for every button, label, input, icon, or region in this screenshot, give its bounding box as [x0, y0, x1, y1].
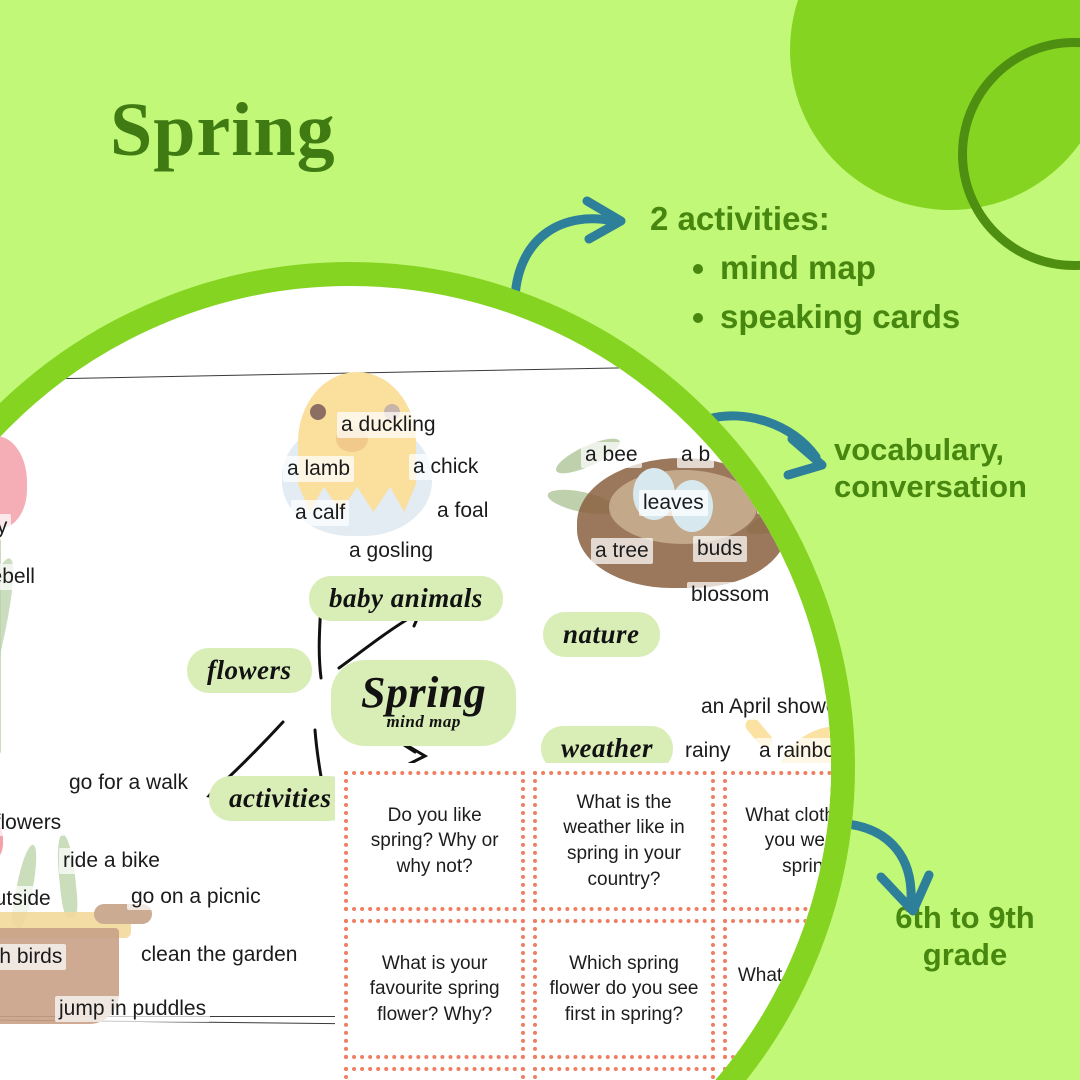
worksheet-preview-circle: a daffodil lily of the valley ulip a blu…: [0, 262, 855, 1080]
vocab-word: blossom: [687, 582, 773, 608]
mindmap-branch-activities[interactable]: activities: [209, 776, 351, 821]
vocab-word: rainy: [681, 738, 735, 764]
note-activities-heading: 2 activities:: [650, 200, 960, 239]
speaking-card[interactable]: What animals you see in sp: [723, 919, 855, 1059]
vocab-word: a chick: [409, 454, 482, 480]
vocab-word: a bluebell: [0, 564, 39, 590]
vocab-word: tch birds: [0, 944, 66, 970]
note-activities-item-0: mind map: [720, 249, 960, 288]
tulips-illustration: [0, 406, 69, 806]
vocab-word: buds: [693, 536, 747, 562]
vocab-word: leaves: [639, 490, 708, 516]
mindmap-branch-flowers[interactable]: flowers: [187, 648, 312, 693]
vocab-word: a bee: [581, 442, 642, 468]
vocab-word: go on a picnic: [127, 884, 265, 910]
note-vocabulary-line-2: conversation: [834, 469, 1074, 506]
vocab-word: outside: [0, 886, 55, 912]
speaking-card[interactable]: What do you like more: spring or: [533, 1067, 714, 1080]
poster-canvas: Spring 2 activities: mind map speaking c…: [0, 0, 1080, 1080]
speaking-card[interactable]: What is your favourite spring flower? Wh…: [344, 919, 525, 1059]
vocab-word: a gosling: [345, 538, 437, 564]
mindmap-branch-nature[interactable]: nature: [543, 612, 660, 657]
note-vocabulary: vocabulary, conversation: [834, 432, 1074, 505]
vocab-word: a lamb: [283, 456, 354, 482]
vocab-word: jump in puddles: [55, 996, 210, 1022]
vocab-word: ride a bike: [59, 848, 164, 874]
mindmap-center-node[interactable]: Spring mind map: [331, 660, 516, 746]
note-grade-line-2: grade: [860, 937, 1070, 974]
speaking-card[interactable]: What clothes do you wear in spring?: [723, 771, 855, 911]
vocab-word: lily of the valley: [0, 514, 11, 540]
vocab-word: a tree: [591, 538, 653, 564]
speaking-card[interactable]: Do you like spring? Why or why not?: [344, 771, 525, 911]
mindmap-branch-baby-animals[interactable]: baby animals: [309, 576, 503, 621]
vocab-word: an April shower: [697, 694, 849, 720]
speaking-card[interactable]: Do you work in the garden in spring?: [344, 1067, 525, 1080]
vocab-word: a calf: [291, 500, 349, 526]
mindmap-center-title: Spring: [361, 670, 486, 716]
note-vocabulary-line-1: vocabulary,: [834, 432, 1074, 469]
speaking-cards-grid: Do you like spring? Why or why not? What…: [344, 771, 855, 1080]
vocab-word: g: [757, 488, 777, 514]
worksheet-sheet: a daffodil lily of the valley ulip a blu…: [0, 286, 855, 1080]
vocab-word: go for a walk: [65, 770, 192, 796]
vocab-word: a b: [677, 442, 714, 468]
speaking-card[interactable]: What is the weather like in spring in yo…: [533, 771, 714, 911]
vocab-word: a duckling: [337, 412, 440, 438]
vocab-word: a foal: [433, 498, 492, 524]
vocab-word: t flowers: [0, 810, 65, 836]
vocab-word: clean the garden: [137, 942, 301, 968]
speaking-card[interactable]: Which spring flower do you see first in …: [533, 919, 714, 1059]
speaking-card[interactable]: What: [723, 1067, 855, 1080]
page-title: Spring: [110, 92, 336, 168]
vocab-word: a rainbow: [755, 738, 854, 764]
